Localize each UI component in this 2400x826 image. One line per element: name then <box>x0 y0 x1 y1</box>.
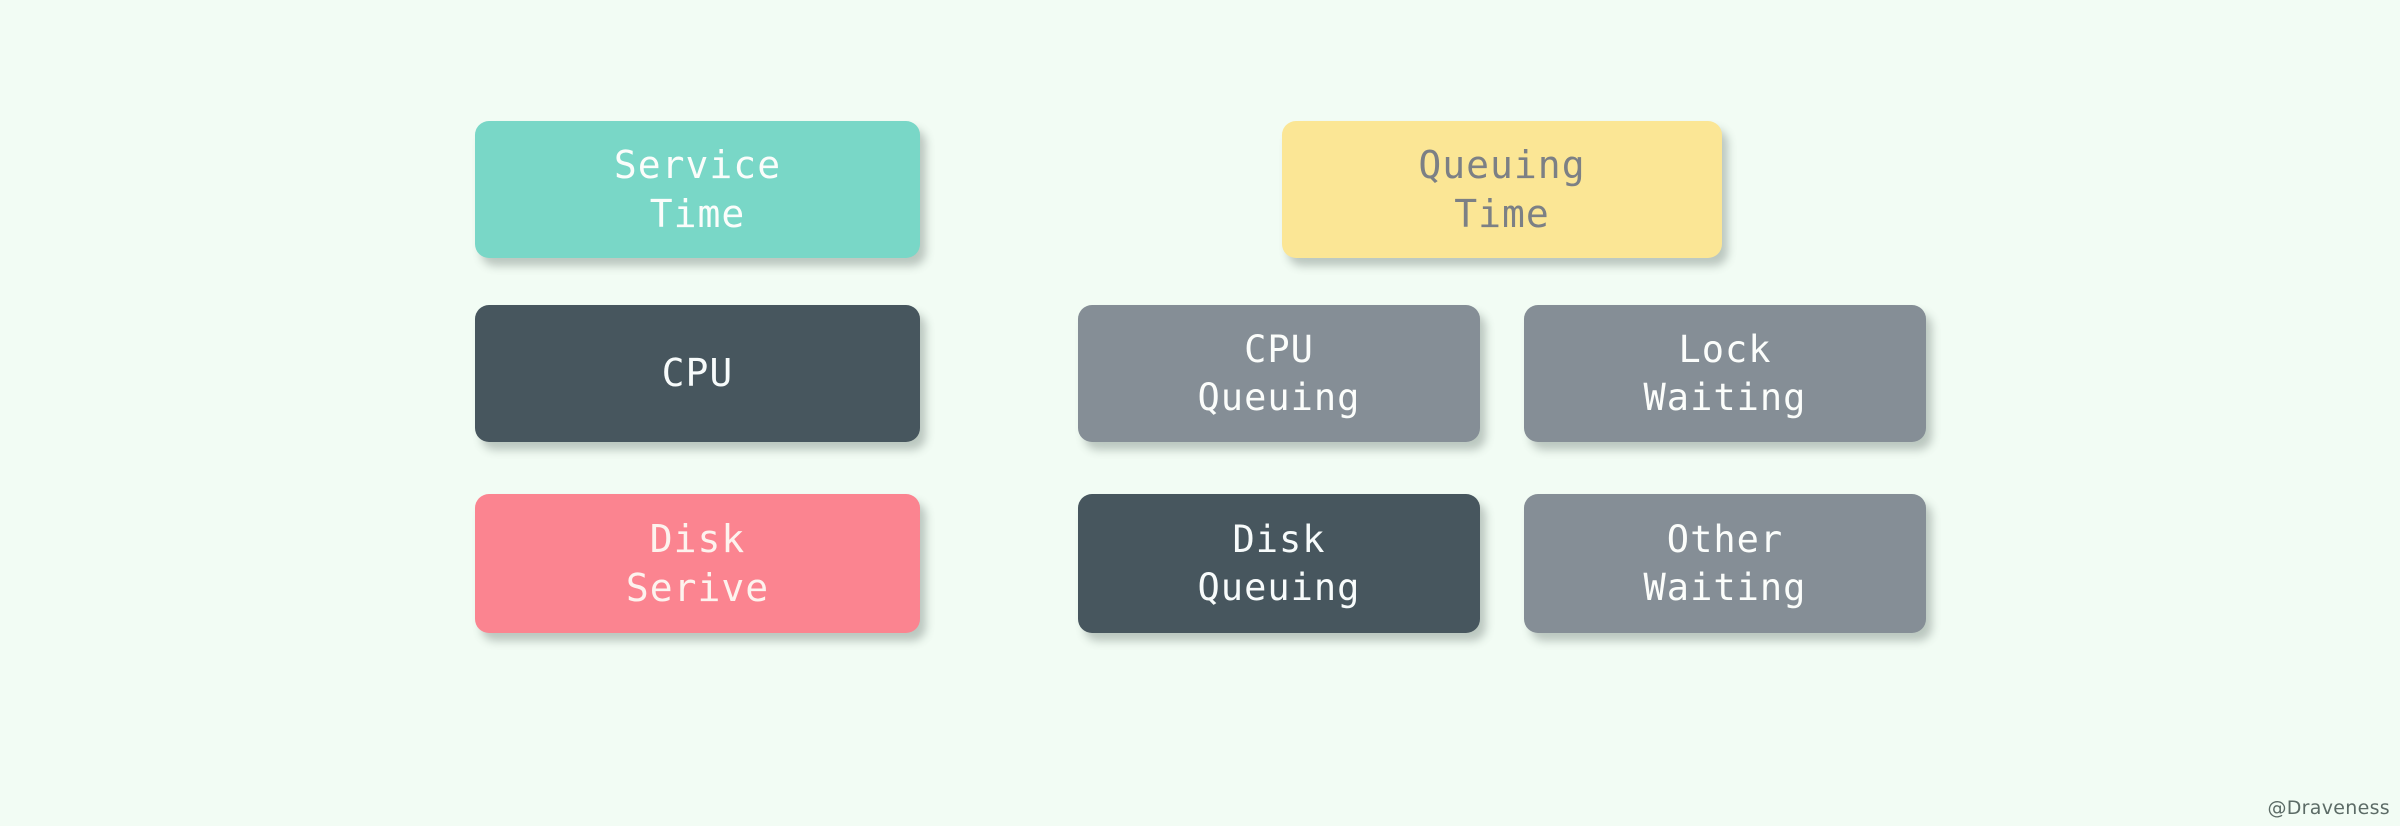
box-queuing-time-line1: Queuing <box>1418 141 1585 190</box>
box-disk-queuing-line1: Disk <box>1232 516 1325 563</box>
box-disk-serive[interactable]: Disk Serive <box>475 494 920 633</box>
box-other-waiting[interactable]: Other Waiting <box>1524 494 1926 633</box>
box-queuing-time-line2: Time <box>1454 190 1550 239</box>
box-other-waiting-line2: Waiting <box>1644 564 1807 611</box>
box-service-time[interactable]: Service Time <box>475 121 920 258</box>
box-lock-waiting-line2: Waiting <box>1644 374 1807 421</box>
box-service-time-line2: Time <box>650 190 746 239</box>
box-service-time-line1: Service <box>614 141 781 190</box>
box-lock-waiting[interactable]: Lock Waiting <box>1524 305 1926 442</box>
box-disk-serive-line2: Serive <box>626 564 769 613</box>
box-cpu-queuing-line2: Queuing <box>1198 374 1361 421</box>
box-disk-queuing-line2: Queuing <box>1198 564 1361 611</box>
box-other-waiting-line1: Other <box>1667 516 1783 563</box>
box-cpu-queuing-line1: CPU <box>1244 326 1314 373</box>
diagram-canvas: Service Time CPU Disk Serive Queuing Tim… <box>0 0 2400 826</box>
box-lock-waiting-line1: Lock <box>1678 326 1771 373</box>
box-cpu-line1: CPU <box>662 349 734 398</box>
box-cpu[interactable]: CPU <box>475 305 920 442</box>
box-cpu-queuing[interactable]: CPU Queuing <box>1078 305 1480 442</box>
box-queuing-time[interactable]: Queuing Time <box>1282 121 1722 258</box>
box-disk-queuing[interactable]: Disk Queuing <box>1078 494 1480 633</box>
box-disk-serive-line1: Disk <box>650 515 746 564</box>
watermark: @Draveness <box>2267 797 2390 819</box>
